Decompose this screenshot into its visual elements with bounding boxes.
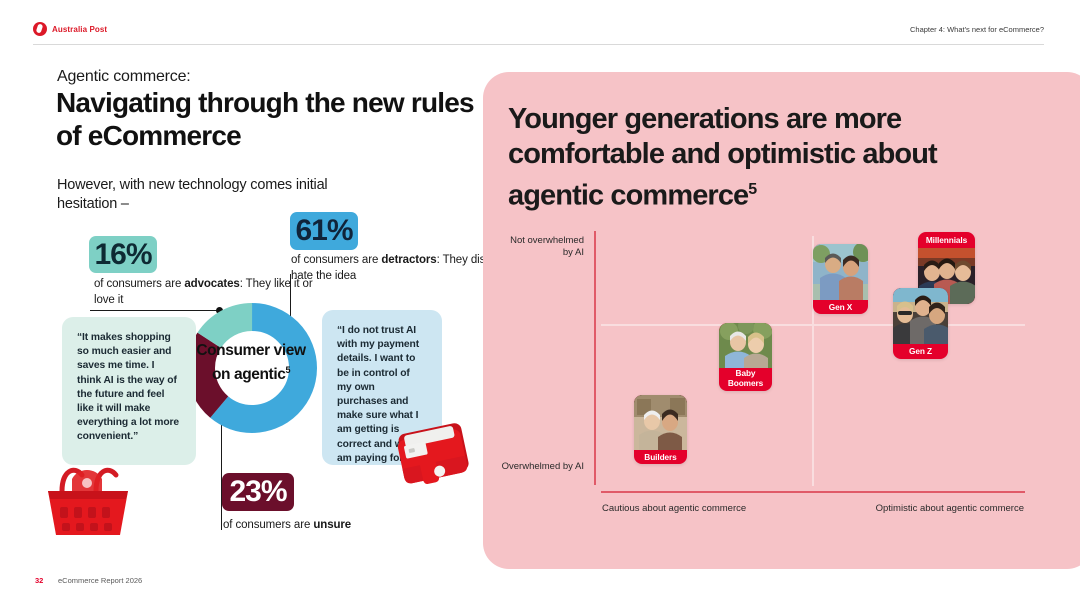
baby-boomers-photo [719, 323, 772, 368]
chart-x-axis [601, 491, 1025, 493]
x-axis-label-left: Cautious about agentic commerce [602, 503, 752, 515]
gen-z-label: Gen Z [893, 344, 948, 359]
header-divider [33, 44, 1044, 45]
donut-center-text: Consumer view on agentic [196, 342, 305, 383]
donut-center-label: Consumer view on agentic5 [196, 342, 306, 384]
builders-label: Builders [634, 450, 687, 464]
stat-caption-unsure-pre: of consumers are [223, 519, 313, 531]
y-axis-label-top: Not overwhelmed by AI [500, 235, 584, 259]
stat-badge-advocates: 16% [89, 236, 157, 273]
advocate-quote-card: “It makes shopping so much easier and sa… [62, 317, 196, 465]
x-axis-label-right: Optimistic about agentic commerce [874, 503, 1024, 515]
donut-center-footnote: 5 [285, 365, 290, 375]
section-eyebrow: Agentic commerce: [57, 68, 191, 86]
chapter-label: Chapter 4: What's next for eCommerce? [910, 25, 1044, 34]
panel-title-text: Younger generations are more comfortable… [508, 103, 937, 212]
stat-badge-detractors: 61% [290, 212, 358, 250]
wallet-illustration [390, 414, 478, 494]
stat-caption-detractors-bold: detractors [381, 254, 436, 266]
data-point-gen-x[interactable]: Gen X [813, 244, 868, 314]
gen-x-photo [813, 244, 868, 300]
stat-caption-unsure-bold: unsure [313, 519, 351, 531]
chart-y-axis [594, 231, 596, 485]
stat-badge-unsure: 23% [222, 473, 294, 511]
stat-caption-advocates-bold: advocates [184, 278, 239, 290]
millennials-label: Millennials [918, 232, 975, 248]
page-title: Navigating through the new rules of eCom… [56, 86, 476, 152]
data-point-baby-boomers[interactable]: Baby Boomers [719, 323, 772, 391]
panel-title-footnote: 5 [748, 181, 756, 198]
page-number: 32 [35, 576, 43, 585]
panel-title: Younger generations are more comfortable… [508, 102, 1008, 214]
stat-caption-detractors-pre: of consumers are [291, 254, 381, 266]
gen-z-photo [893, 288, 948, 344]
y-axis-label-bottom: Overwhelmed by AI [500, 461, 584, 473]
report-name: eCommerce Report 2026 [58, 576, 142, 585]
gen-x-label: Gen X [813, 300, 868, 314]
stat-caption-unsure: of consumers are unsure [223, 517, 453, 533]
slide-page: Australia Post Chapter 4: What's next fo… [0, 0, 1080, 608]
australia-post-mark-icon [33, 22, 47, 36]
australia-post-logo: Australia Post [33, 22, 107, 36]
data-point-gen-z[interactable]: Gen Z [893, 288, 948, 359]
stat-caption-advocates-pre: of consumers are [94, 278, 184, 290]
intro-copy: However, with new technology comes initi… [57, 176, 357, 214]
baby-boomers-label: Baby Boomers [719, 366, 772, 391]
data-point-builders[interactable]: Builders [634, 395, 687, 464]
shopping-basket-illustration [36, 447, 140, 539]
brand-name: Australia Post [52, 25, 107, 34]
builders-photo [634, 395, 687, 450]
